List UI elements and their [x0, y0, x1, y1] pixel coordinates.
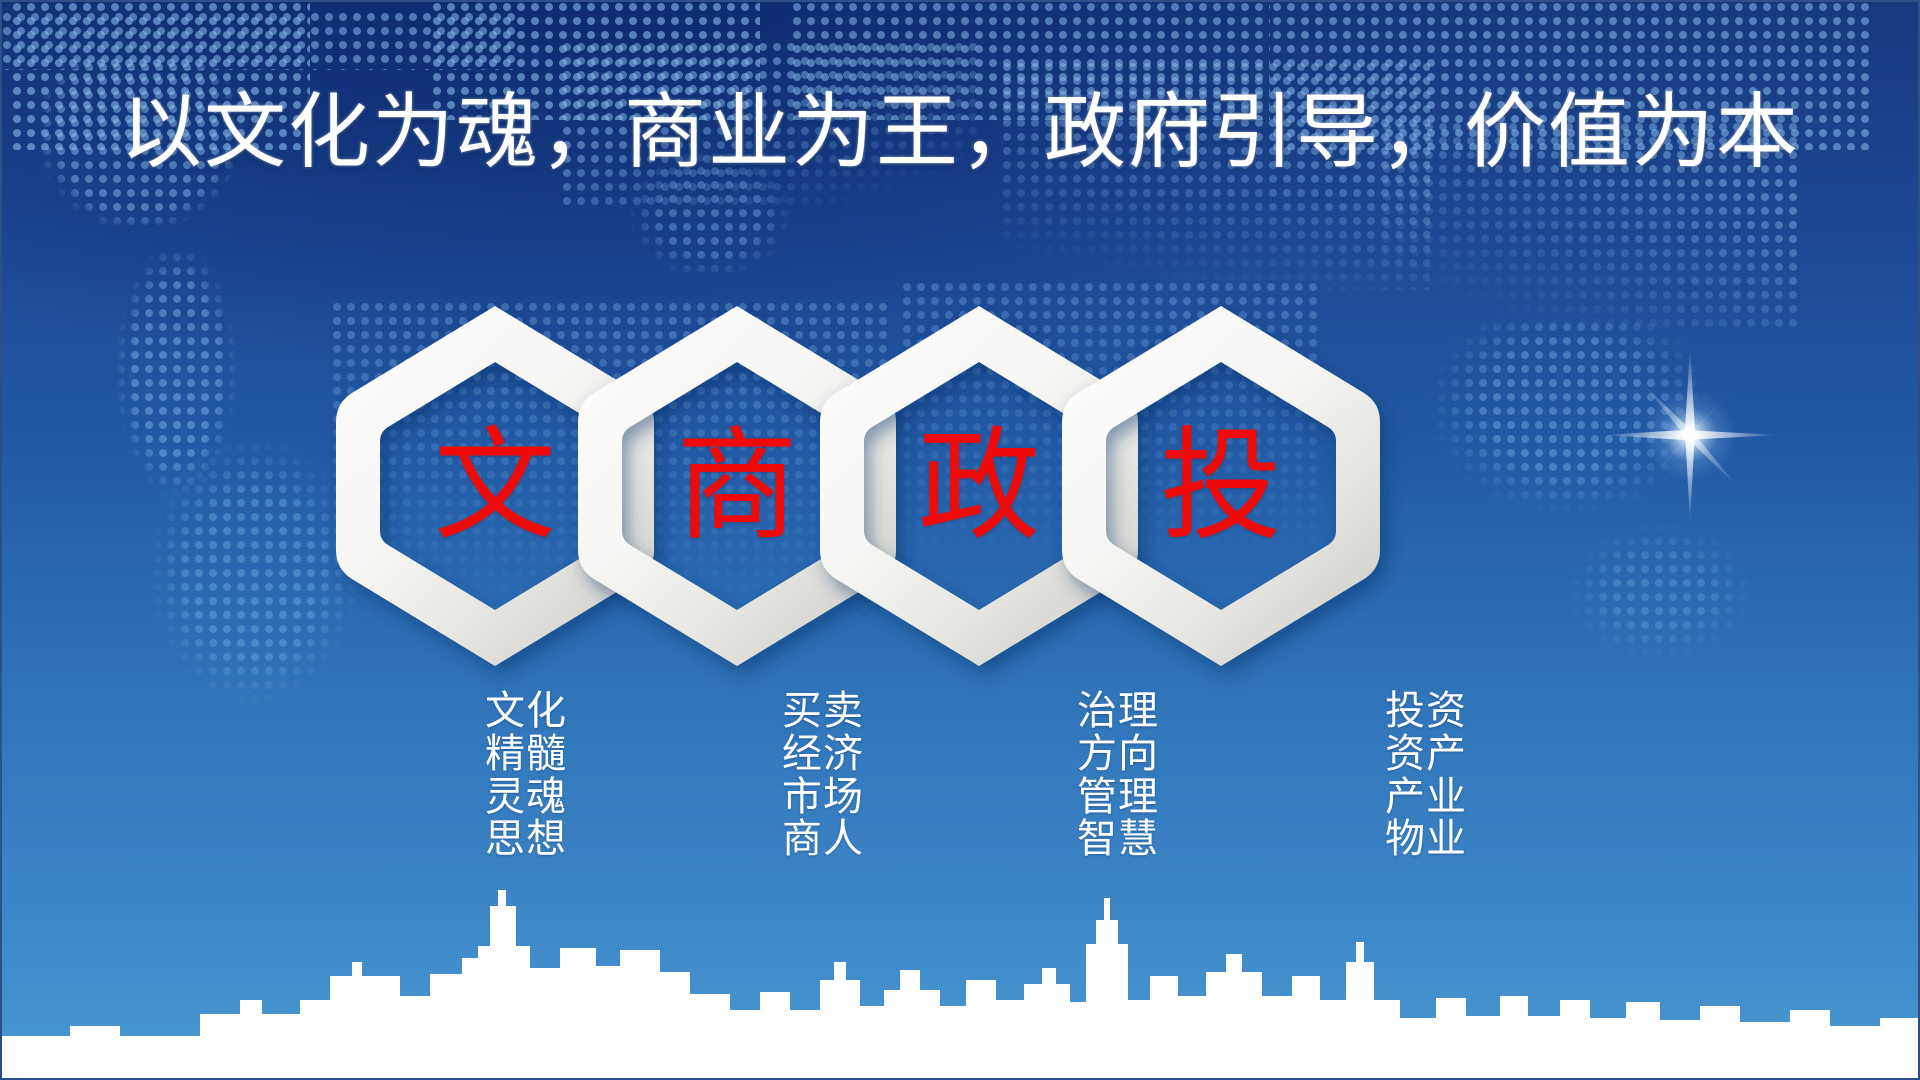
pillar-label: 市场: [782, 776, 942, 819]
slide-canvas: 以文化为魂，商业为王，政府引导，价值为本 文: [0, 0, 1920, 1080]
pillar-label: 灵魂: [485, 776, 645, 819]
pillar-label: 经济: [782, 733, 942, 776]
pillar-labels-culture: 文化 精髓 灵魂 思想: [485, 690, 645, 861]
pillar-label: 治理: [1077, 690, 1237, 733]
pillar-label: 管理: [1077, 776, 1237, 819]
pillar-labels-investment: 投资 资产 产业 物业: [1385, 690, 1545, 861]
pillar-glyph: 投: [1056, 300, 1386, 672]
pillar-label: 买卖: [782, 690, 942, 733]
pillar-label: 产业: [1385, 776, 1545, 819]
pillar-label: 文化: [485, 690, 645, 733]
pillar-label: 方向: [1077, 733, 1237, 776]
pillar-label: 资产: [1385, 733, 1545, 776]
hexagon-ring-investment[interactable]: 投: [1056, 300, 1386, 672]
pillar-labels-government: 治理 方向 管理 智慧: [1077, 690, 1237, 861]
pillar-label: 精髓: [485, 733, 645, 776]
pillar-labels-commerce: 买卖 经济 市场 商人: [782, 690, 942, 861]
city-skyline-silhouette: [0, 850, 1920, 1080]
pillar-label: 投资: [1385, 690, 1545, 733]
